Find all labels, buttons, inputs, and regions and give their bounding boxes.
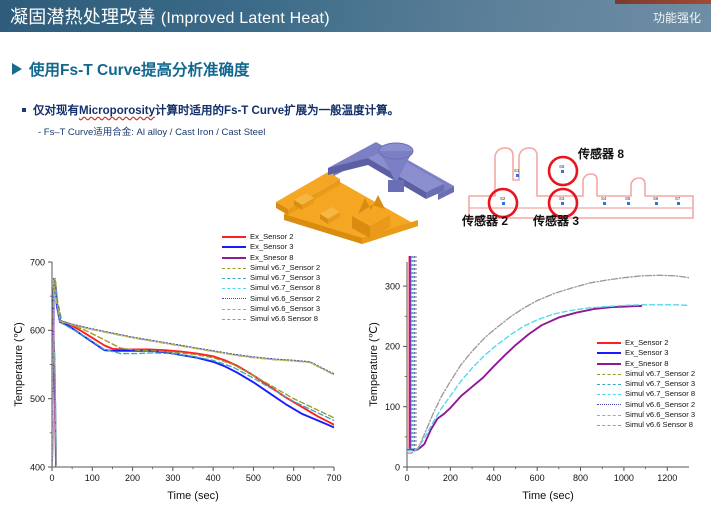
legend-label: Simul v6.7_Sensor 3 — [250, 273, 320, 283]
x-tick-label: 1200 — [657, 473, 677, 483]
legend-label: Ex_Sensor 2 — [625, 338, 668, 348]
legend-swatch-icon — [597, 363, 621, 365]
x-tick-label: 100 — [85, 473, 100, 483]
legend-label: Simul v6.6 Sensor 8 — [625, 420, 693, 430]
bullet-primary-text: 仅对现有Microporosity计算时适用的Fs-T Curve扩展为一般温度… — [33, 102, 399, 118]
legend-swatch-icon — [222, 236, 246, 238]
y-tick-label: 700 — [30, 257, 45, 267]
legend-label: Simul v6.7_Sensor 2 — [625, 369, 695, 379]
legend-item: Simul v6.7_Sensor 8 — [222, 283, 320, 293]
legend-label: Simul v6.6_Sensor 2 — [250, 294, 320, 304]
right-chart-legend: Ex_Sensor 2Ex_Sensor 3Ex_Snesor 8Simul v… — [597, 338, 695, 431]
legend-swatch-icon — [222, 246, 246, 248]
legend-swatch-icon — [222, 309, 246, 310]
bullet-secondary-text: - Fs–T Curve适用合金: Al alloy / Cast Iron /… — [38, 124, 265, 138]
legend-item: Simul v6.6_Sensor 2 — [222, 294, 320, 304]
sensor-2-callout-label: 传感器 2 — [462, 212, 508, 229]
legend-item: Ex_Sensor 3 — [597, 348, 695, 358]
legend-label: Simul v6.7_Sensor 8 — [250, 283, 320, 293]
legend-item: Simul v6.6 Sensor 8 — [597, 420, 695, 430]
page-title: 凝固潜热处理改善 (Improved Latent Heat) — [10, 3, 330, 29]
legend-item: Simul v6.6_Sensor 3 — [597, 410, 695, 420]
legend-swatch-icon — [222, 319, 246, 320]
legend-swatch-icon — [222, 298, 246, 299]
y-axis-label: Temperature (℃) — [368, 322, 380, 407]
x-tick-label: 600 — [530, 473, 545, 483]
legend-swatch-icon — [222, 278, 246, 279]
legend-item: Simul v6.7_Sensor 3 — [597, 379, 695, 389]
legend-label: Simul v6.6_Sensor 2 — [625, 400, 695, 410]
x-tick-label: 500 — [246, 473, 261, 483]
triangle-right-icon — [12, 63, 22, 75]
x-tick-label: 0 — [49, 473, 54, 483]
title-bar-right-label: 功能强化 — [653, 9, 701, 26]
x-tick-label: 200 — [125, 473, 140, 483]
probe-label-s1: S1 — [514, 168, 520, 173]
y-tick-label: 200 — [385, 342, 400, 352]
y-tick-label: 600 — [30, 326, 45, 336]
legend-label: Simul v6.7_Sensor 3 — [625, 379, 695, 389]
title-bar: 凝固潜热处理改善 (Improved Latent Heat) 功能强化 — [0, 0, 711, 32]
legend-swatch-icon — [222, 257, 246, 259]
sensor-8-callout-label: 传感器 8 — [578, 145, 624, 162]
legend-swatch-icon — [597, 352, 621, 354]
legend-item: Ex_Snesor 8 — [222, 253, 320, 263]
legend-label: Simul v6.6 Sensor 8 — [250, 314, 318, 324]
legend-label: Ex_Sensor 3 — [625, 348, 668, 358]
x-tick-label: 700 — [326, 473, 341, 483]
legend-swatch-icon — [597, 394, 621, 395]
legend-item: Ex_Sensor 2 — [597, 338, 695, 348]
y-tick-label: 500 — [30, 394, 45, 404]
bullet-primary-prefix: 仅对现有 — [33, 105, 79, 117]
x-tick-label: 600 — [286, 473, 301, 483]
legend-item: Ex_Sensor 3 — [222, 242, 320, 252]
legend-label: Simul v6.7_Sensor 2 — [250, 263, 320, 273]
y-axis-label: Temperature (℃) — [13, 322, 25, 407]
x-tick-label: 0 — [404, 473, 409, 483]
legend-swatch-icon — [597, 342, 621, 344]
y-tick-label: 0 — [395, 462, 400, 472]
probe-label-s6: S6 — [653, 196, 659, 201]
x-tick-label: 400 — [486, 473, 501, 483]
section-heading: 使用Fs-T Curve提高分析准确度 — [12, 58, 249, 80]
legend-label: Ex_Sensor 2 — [250, 232, 293, 242]
y-tick-label: 100 — [385, 402, 400, 412]
legend-swatch-icon — [597, 374, 621, 375]
legend-item: Simul v6.7_Sensor 2 — [222, 263, 320, 273]
x-tick-label: 800 — [573, 473, 588, 483]
legend-swatch-icon — [597, 404, 621, 405]
probe-label-s3: S3 — [559, 196, 565, 201]
page-title-en: (Improved Latent Heat) — [161, 10, 330, 27]
sensor-3-callout-label: 传感器 3 — [533, 212, 579, 229]
y-tick-label: 300 — [385, 281, 400, 291]
legend-item: Simul v6.7_Sensor 2 — [597, 369, 695, 379]
legend-swatch-icon — [597, 415, 621, 416]
legend-item: Simul v6.7_Sensor 8 — [597, 389, 695, 399]
legend-item: Ex_Sensor 2 — [222, 232, 320, 242]
x-tick-label: 300 — [165, 473, 180, 483]
legend-label: Ex_Snesor 8 — [250, 253, 293, 263]
legend-swatch-icon — [222, 268, 246, 269]
bullet-primary-keyword: Microporosity — [79, 105, 155, 117]
legend-label: Ex_Sensor 3 — [250, 242, 293, 252]
legend-item: Simul v6.6_Sensor 3 — [222, 304, 320, 314]
page-title-cn: 凝固潜热处理改善 — [10, 7, 156, 27]
bullet-square-icon — [22, 108, 26, 112]
legend-item: Simul v6.7_Sensor 3 — [222, 273, 320, 283]
legend-item: Ex_Snesor 8 — [597, 359, 695, 369]
left-chart-legend: Ex_Sensor 2Ex_Sensor 3Ex_Snesor 8Simul v… — [222, 232, 320, 325]
legend-label: Simul v6.6_Sensor 3 — [625, 410, 695, 420]
probe-label-s5: S5 — [625, 196, 631, 201]
probe-label-s7: S7 — [675, 196, 681, 201]
title-bar-accent — [615, 0, 711, 4]
legend-label: Simul v6.6_Sensor 3 — [250, 304, 320, 314]
bullet-primary: 仅对现有Microporosity计算时适用的Fs-T Curve扩展为一般温度… — [22, 102, 399, 118]
x-tick-label: 400 — [206, 473, 221, 483]
legend-item: Simul v6.6 Sensor 8 — [222, 314, 320, 324]
y-tick-label: 400 — [30, 462, 45, 472]
casting-3d-model — [268, 142, 458, 244]
x-axis-label: Time (sec) — [167, 490, 219, 502]
x-axis-label: Time (sec) — [522, 490, 574, 502]
legend-swatch-icon — [597, 384, 621, 385]
probe-label-s2: S2 — [500, 196, 506, 201]
legend-label: Simul v6.7_Sensor 8 — [625, 389, 695, 399]
probe-label-s4: S4 — [601, 196, 607, 201]
legend-swatch-icon — [597, 425, 621, 426]
legend-label: Ex_Snesor 8 — [625, 359, 668, 369]
x-tick-label: 200 — [443, 473, 458, 483]
probe-label-s8: S8 — [559, 164, 565, 169]
bullet-primary-suffix: 计算时适用的Fs-T Curve扩展为一般温度计算。 — [155, 105, 399, 117]
section-heading-label: 使用Fs-T Curve提高分析准确度 — [29, 58, 249, 80]
legend-item: Simul v6.6_Sensor 2 — [597, 400, 695, 410]
legend-swatch-icon — [222, 288, 246, 289]
x-tick-label: 1000 — [614, 473, 634, 483]
